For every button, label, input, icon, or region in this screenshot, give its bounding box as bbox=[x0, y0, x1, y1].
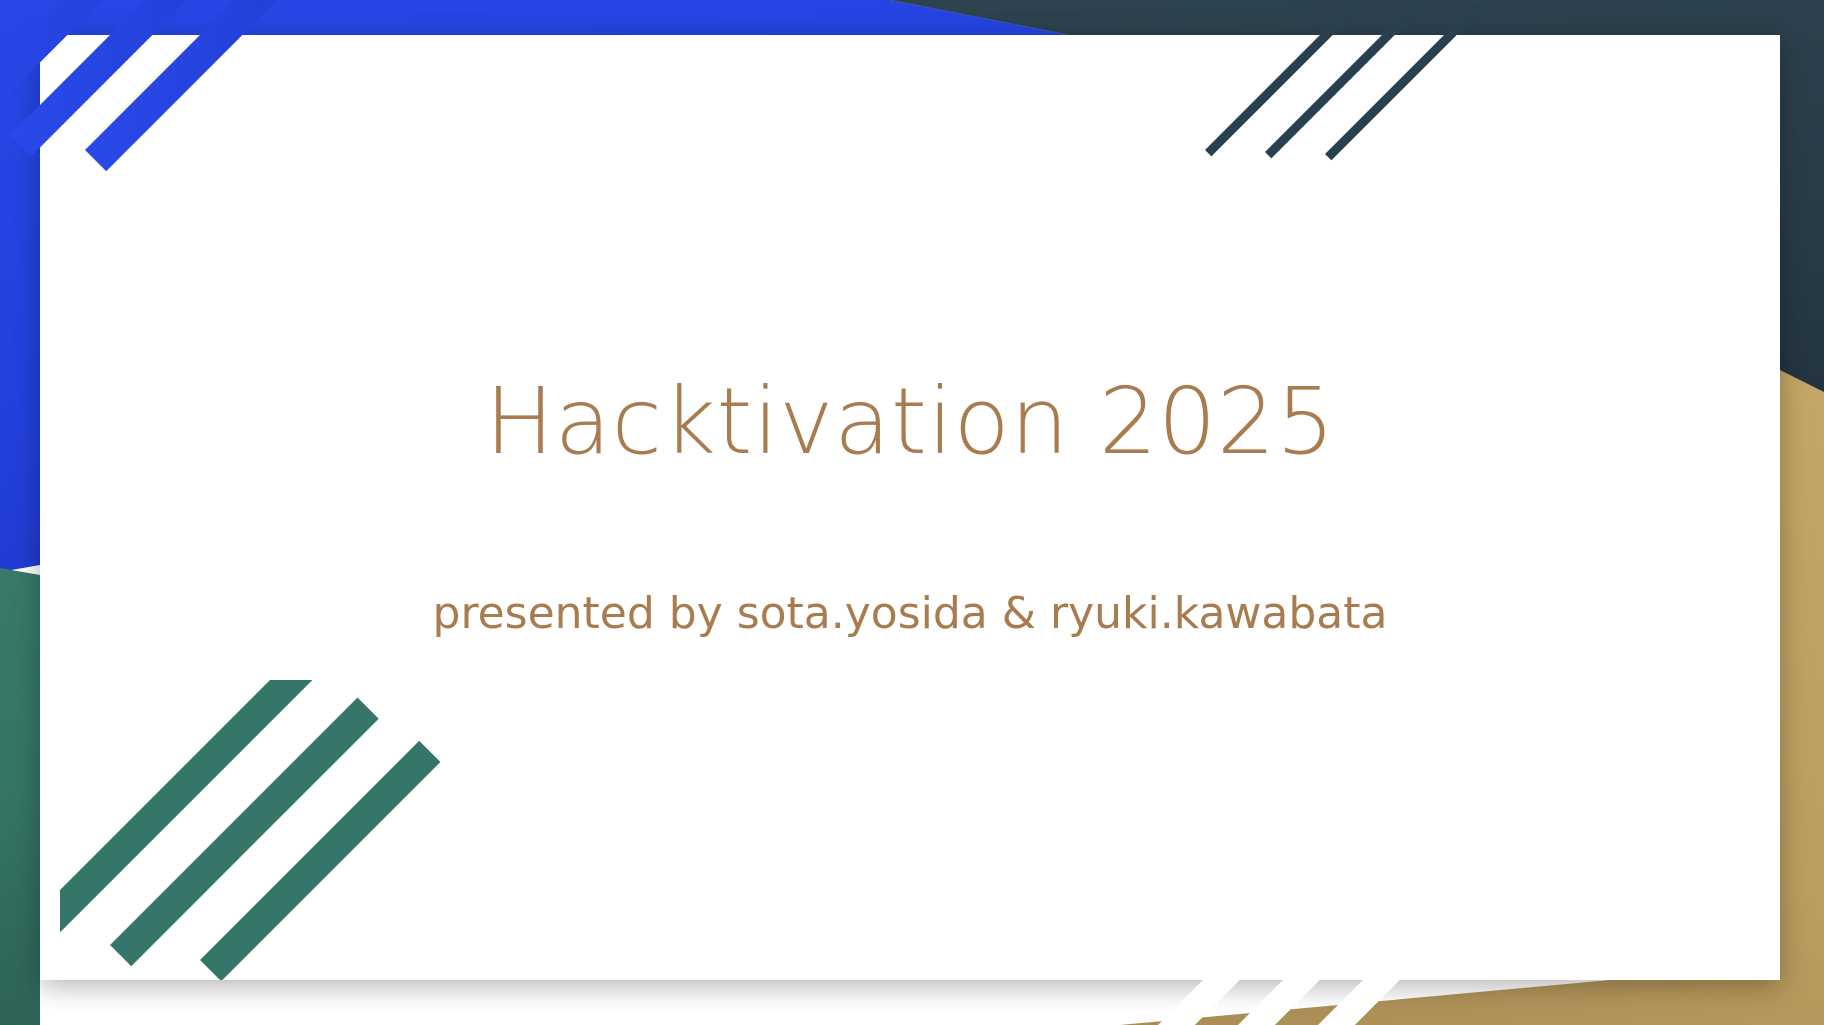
presentation-slide: Hacktivation 2025 presented by sota.yosi… bbox=[0, 0, 1824, 1025]
slide-subtitle: presented by sota.yosida & ryuki.kawabat… bbox=[433, 588, 1388, 641]
slide-title: Hacktivation 2025 bbox=[485, 374, 1335, 471]
slide-content: Hacktivation 2025 presented by sota.yosi… bbox=[40, 35, 1780, 980]
